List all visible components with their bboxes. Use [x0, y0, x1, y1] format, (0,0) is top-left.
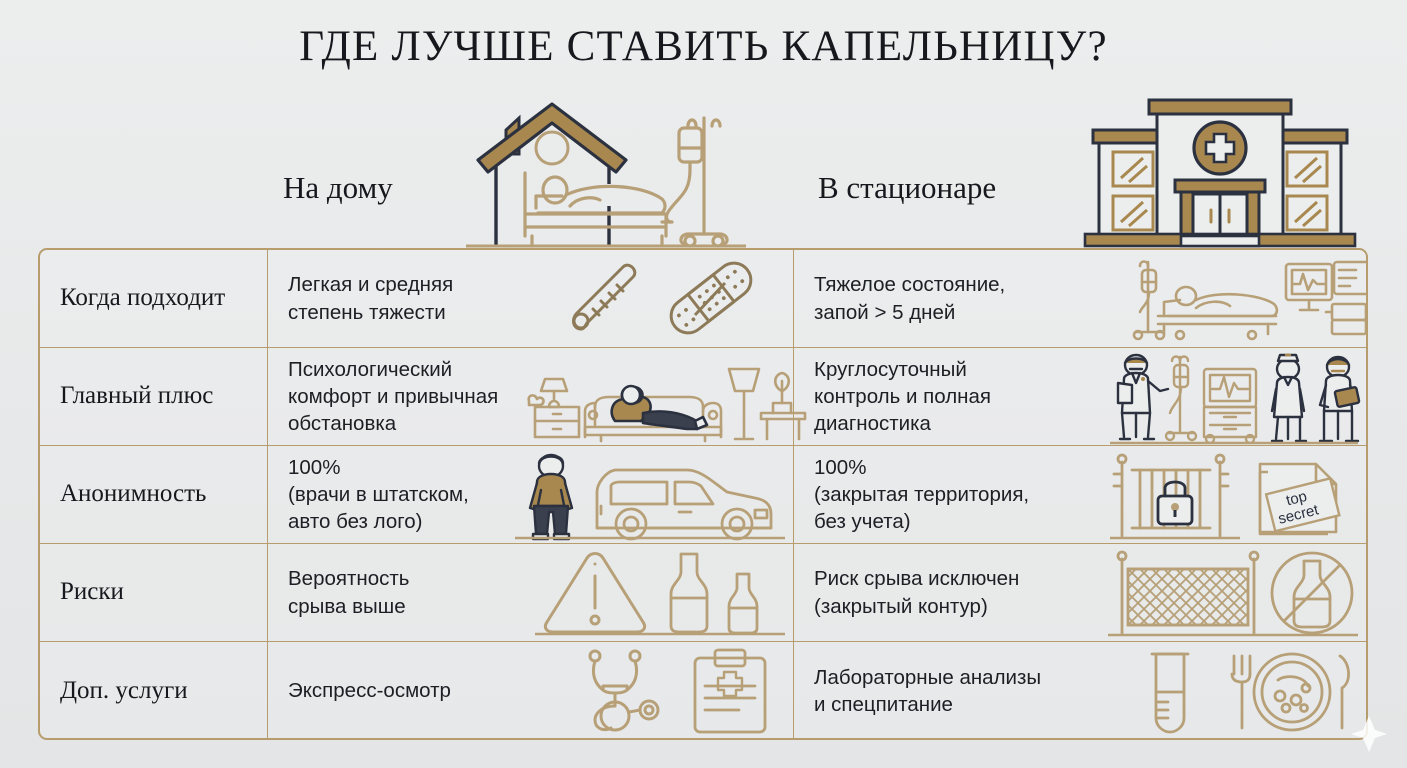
table-row: Когда подходит Легкая и средняя степень …	[40, 250, 1366, 348]
row3-hospital-icons: top secret	[1110, 450, 1358, 540]
table-row: Доп. услуги Экспресс-осмотр	[40, 642, 1366, 740]
cell-text: Круглосуточный контроль и полная диагнос…	[814, 356, 991, 438]
row-hospital-cell: Круглосуточный контроль и полная диагнос…	[794, 348, 1366, 445]
row2-hospital-icons	[1110, 349, 1358, 445]
row-home-cell: Экспресс-осмотр	[268, 642, 794, 740]
cell-text: Лабораторные анализы и спецпитание	[814, 664, 1041, 719]
table-row: Анонимность 100% (врачи в штатском, авто…	[40, 446, 1366, 544]
row1-home-icons	[555, 259, 785, 339]
row-hospital-cell: Риск срыва исключен (закрытый контур)	[794, 544, 1366, 641]
table-row: Риски Вероятность срыва выше	[40, 544, 1366, 642]
table-row: Главный плюс Психологический комфорт и п…	[40, 348, 1366, 446]
cell-text: Вероятность срыва выше	[288, 565, 409, 620]
cell-text: Легкая и средняя степень тяжести	[288, 271, 453, 326]
cell-text: 100% (врачи в штатском, авто без лого)	[288, 454, 469, 536]
row-home-cell: Вероятность срыва выше	[268, 544, 794, 641]
hospital-illustration	[1085, 96, 1355, 248]
row5-hospital-icons	[1128, 648, 1358, 734]
row3-home-icons	[515, 450, 785, 540]
row-hospital-cell: Лабораторные анализы и спецпитание	[794, 642, 1366, 740]
row-home-cell: 100% (врачи в штатском, авто без лого)	[268, 446, 794, 543]
page-title: ГДЕ ЛУЧШЕ СТАВИТЬ КАПЕЛЬНИЦУ?	[0, 22, 1407, 71]
row-home-cell: Психологический комфорт и привычная обст…	[268, 348, 794, 445]
cell-text: Экспресс-осмотр	[288, 677, 451, 704]
row-label: Доп. услуги	[40, 642, 268, 740]
row-home-cell: Легкая и средняя степень тяжести	[268, 250, 794, 347]
cell-text: Тяжелое состояние, запой > 5 дней	[814, 271, 1005, 326]
row2-home-icons	[523, 351, 785, 443]
comparison-table: Когда подходит Легкая и средняя степень …	[38, 248, 1368, 740]
row-hospital-cell: 100% (закрытая территория, без учета)	[794, 446, 1366, 543]
home-illustration	[466, 96, 746, 248]
cell-text: 100% (закрытая территория, без учета)	[814, 454, 1029, 536]
row4-home-icons	[535, 550, 785, 636]
row5-home-icons	[555, 648, 785, 734]
diamond-watermark-icon	[1349, 714, 1389, 754]
row-hospital-cell: Тяжелое состояние, запой > 5 дней	[794, 250, 1366, 347]
row1-hospital-icons	[1118, 256, 1358, 342]
column-header-hospital: В стационаре	[818, 170, 996, 206]
row-label: Риски	[40, 544, 268, 641]
top-secret-line2: secret	[1277, 501, 1322, 528]
row4-hospital-icons	[1108, 549, 1358, 637]
row-label: Анонимность	[40, 446, 268, 543]
infographic-page: ГДЕ ЛУЧШЕ СТАВИТЬ КАПЕЛЬНИЦУ? На дому В …	[0, 0, 1407, 768]
top-secret-line1: top	[1284, 487, 1308, 509]
row-label: Когда подходит	[40, 250, 268, 347]
cell-text: Риск срыва исключен (закрытый контур)	[814, 565, 1019, 620]
column-header-home: На дому	[283, 170, 393, 206]
cell-text: Психологический комфорт и привычная обст…	[288, 356, 498, 438]
row-label: Главный плюс	[40, 348, 268, 445]
